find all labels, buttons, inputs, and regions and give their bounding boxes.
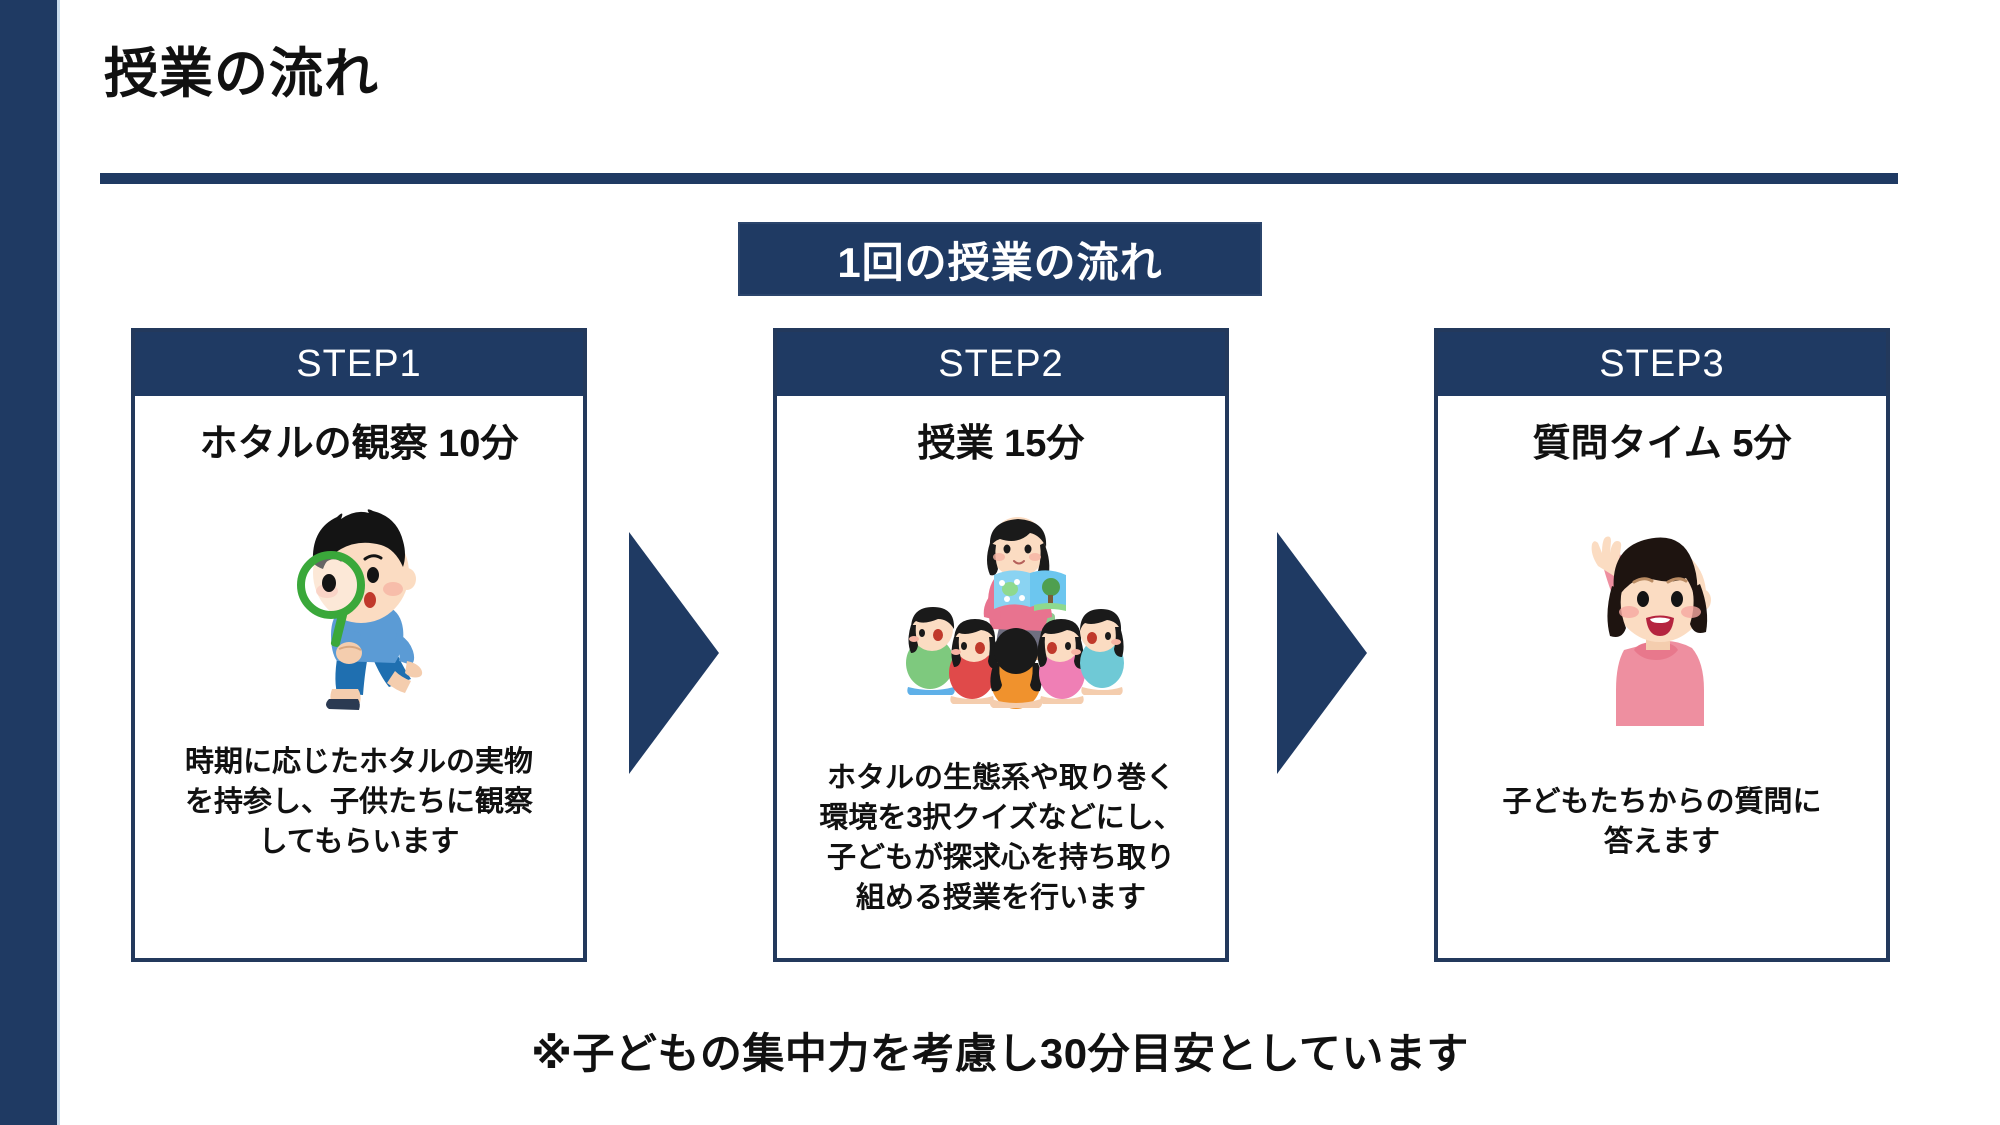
- teacher-reading-to-children-icon: [876, 513, 1126, 713]
- step-card-1-illustration-wrap: [149, 468, 569, 742]
- page-title: 授業の流れ: [104, 42, 379, 107]
- step-card-2-illustration-wrap: [791, 468, 1211, 758]
- arrow-right-icon: [625, 528, 723, 778]
- step-card-1: STEP1 ホタルの観察 10分: [131, 328, 587, 962]
- title-divider-rule: [100, 173, 1898, 184]
- step-card-2-description: ホタルの生態系や取り巻く 環境を3択クイズなどにし、 子どもが探求心を持ち取り …: [819, 758, 1182, 958]
- flow-arrow-step2-to-step3: [1273, 528, 1371, 778]
- left-accent-stripe-edge: [57, 0, 60, 1125]
- step-card-2-header: STEP2: [777, 332, 1225, 396]
- section-banner-label: 1回の授業の流れ: [837, 229, 1162, 290]
- step-card-3-header: STEP3: [1438, 332, 1886, 396]
- footer-note: ※子どもの集中力を考慮し30分目安としています: [0, 1020, 2000, 1081]
- girl-raising-hand-icon: [1572, 522, 1752, 727]
- section-banner: 1回の授業の流れ: [738, 222, 1262, 296]
- step-card-1-subtitle: ホタルの観察 10分: [200, 422, 519, 468]
- flow-arrow-step1-to-step2: [625, 528, 723, 778]
- step-card-3: STEP3 質問タイム 5分: [1434, 328, 1890, 962]
- step-card-1-header: STEP1: [135, 332, 583, 396]
- slide-canvas: 授業の流れ 1回の授業の流れ STEP1 ホタルの観察 10分: [0, 0, 2000, 1125]
- step-card-2: STEP2 授業 15分: [773, 328, 1229, 962]
- step-card-3-subtitle: 質問タイム 5分: [1533, 422, 1792, 468]
- left-accent-stripe: [0, 0, 57, 1125]
- step-card-3-description: 子どもたちからの質問に 答えます: [1502, 782, 1821, 958]
- arrow-right-icon: [1273, 528, 1371, 778]
- boy-with-magnifying-glass-icon: [269, 497, 449, 712]
- step-card-2-body: 授業 15分: [777, 396, 1225, 958]
- step-card-3-illustration-wrap: [1452, 468, 1872, 782]
- step-card-2-subtitle: 授業 15分: [918, 422, 1085, 468]
- step-card-1-description: 時期に応じたホタルの実物 を持参し、子供たちに観察 してもらいます: [185, 742, 533, 958]
- step-card-1-body: ホタルの観察 10分: [135, 396, 583, 958]
- step-card-3-body: 質問タイム 5分: [1438, 396, 1886, 958]
